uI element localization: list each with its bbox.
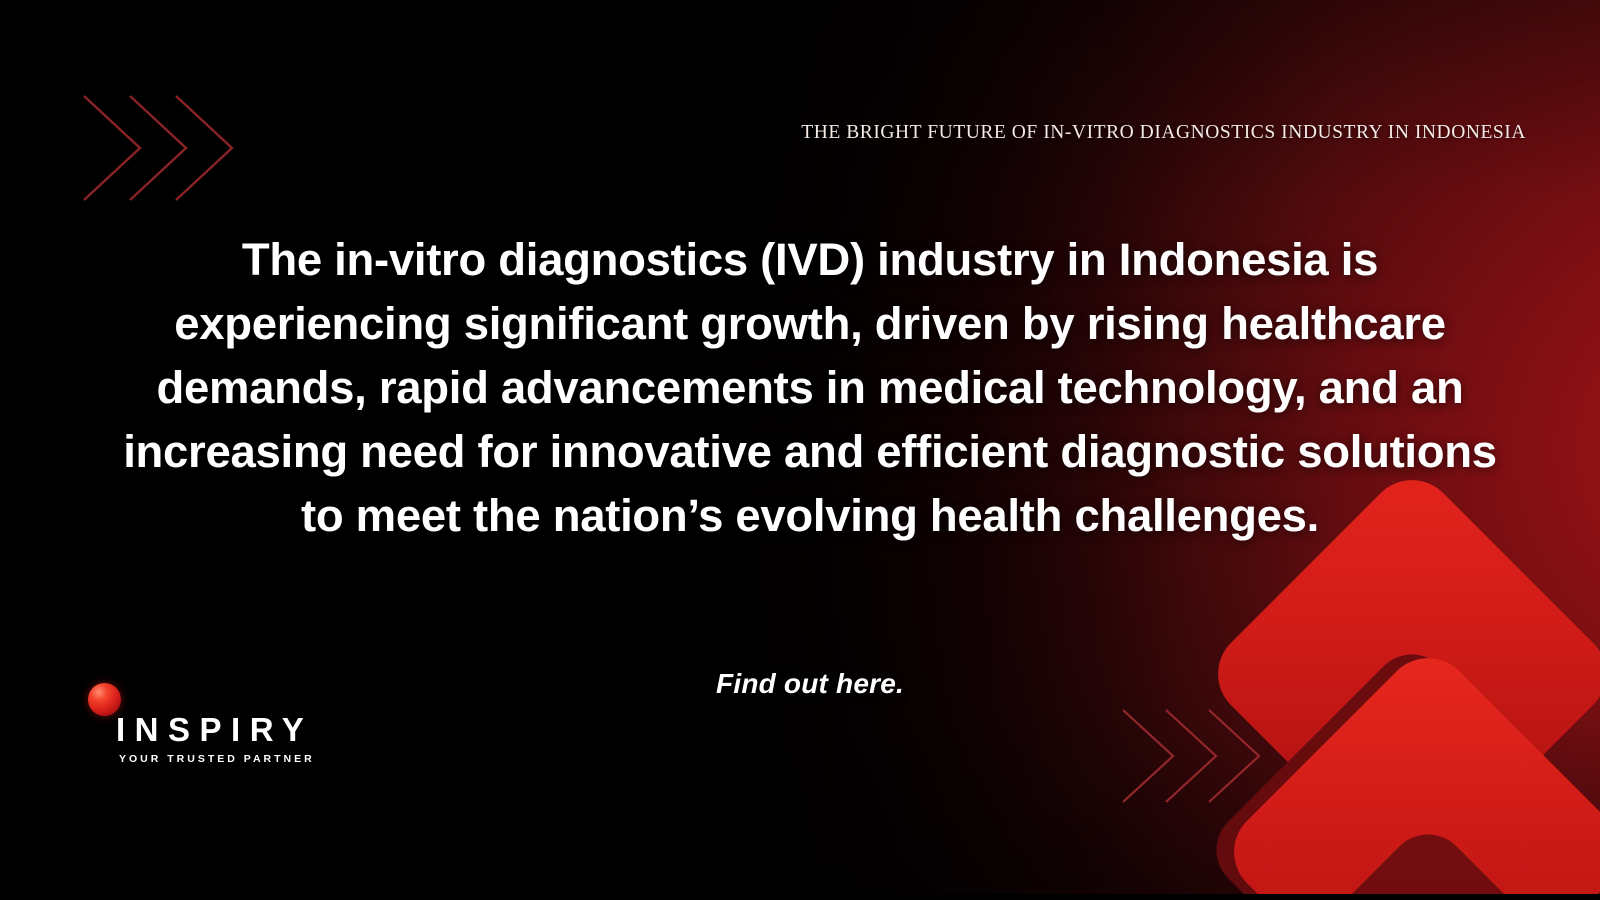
triple-chevron-right-outline-icon (1118, 706, 1308, 806)
slide-cta-text[interactable]: Find out here. (470, 668, 1150, 700)
slide-eyebrow-title: THE BRIGHT FUTURE OF IN-VITRO DIAGNOSTIC… (716, 122, 1526, 144)
logo-wordmark: INSPIRY (116, 713, 313, 746)
triple-chevron-right-outline-icon (78, 92, 278, 204)
slide-canvas: THE BRIGHT FUTURE OF IN-VITRO DIAGNOSTIC… (0, 0, 1600, 900)
bottom-black-bar (0, 894, 1600, 900)
inspiry-logo[interactable]: INSPIRY YOUR TRUSTED PARTNER (88, 683, 348, 779)
triple-chevron-right-icon-bottom-right (1118, 706, 1308, 806)
slide-headline: The in-vitro diagnostics (IVD) industry … (120, 228, 1500, 548)
logo-tagline: YOUR TRUSTED PARTNER (119, 754, 315, 765)
triple-chevron-right-icon-top-left (78, 92, 278, 204)
